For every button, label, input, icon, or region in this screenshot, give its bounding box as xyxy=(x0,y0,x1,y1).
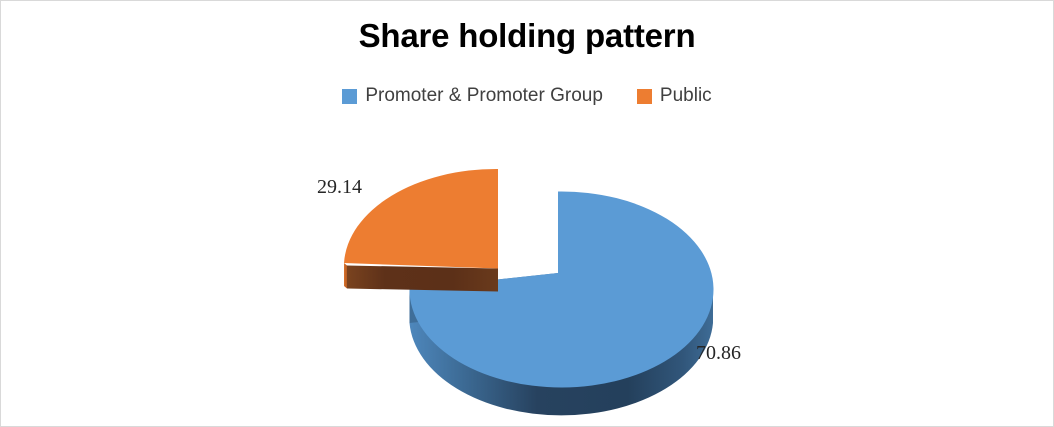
pie-slice-public-side-cap xyxy=(344,263,347,289)
chart-container: Share holding pattern Promoter & Promote… xyxy=(0,0,1054,427)
data-label-public: 29.14 xyxy=(317,176,362,198)
pie-chart-plot-area: 29.14 70.86 xyxy=(1,1,1054,427)
pie-slice-public-side xyxy=(347,266,498,292)
pie-slice-public[interactable] xyxy=(344,169,498,292)
data-label-promoter: 70.86 xyxy=(696,342,741,364)
pie-slice-public-top xyxy=(344,169,498,269)
